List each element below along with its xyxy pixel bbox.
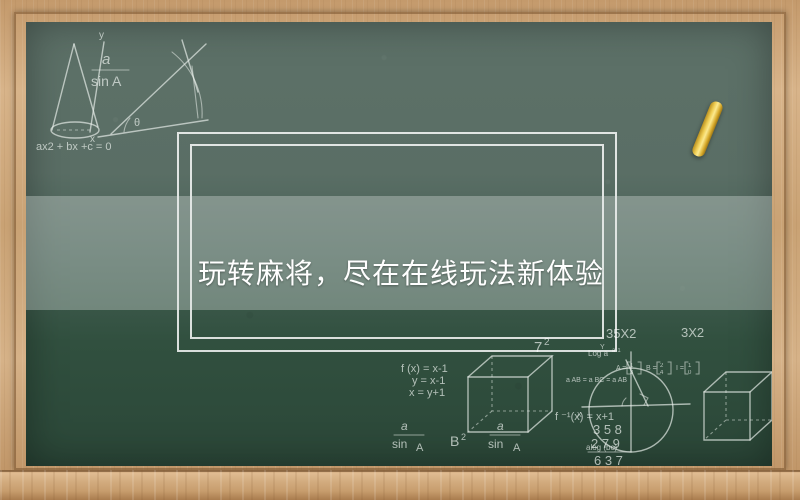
svg-text:2 7 9: 2 7 9 [591,436,620,451]
svg-text:1: 1 [630,363,634,369]
fraction-a-sina-topleft: a sin A [91,51,129,89]
b-squared: B 2 [450,432,466,449]
function-equations: f (x) = x-1 y = x-1 x = y+1 [401,363,448,399]
svg-text:sin: sin [392,437,407,451]
cone-diagram [51,44,99,138]
svg-text:a: a [401,419,408,433]
chalkboard: a sin A ax2 + bx +c = 0 y x θ [26,22,772,466]
svg-text:1: 1 [688,363,692,369]
fraction-a-sina-bottom-center: a sin A [488,419,521,454]
svg-text:x = y+1: x = y+1 [409,387,445,399]
svg-text:B: B [450,433,459,449]
svg-text:2: 2 [461,432,466,442]
multiply-3x2: 3X2 [681,325,704,340]
svg-text:B =: B = [646,365,657,372]
svg-text:X: X [577,412,582,419]
svg-text:I =: I = [676,365,684,372]
ledge-wood-grain [0,470,800,500]
svg-text:a: a [102,51,110,68]
ratio-note: a AB = a BC = a AB [566,377,627,384]
svg-text:θ: θ [134,117,140,129]
svg-text:sin: sin [488,437,503,451]
svg-text:6 3 7: 6 3 7 [594,453,623,466]
svg-text:y: y [99,30,104,41]
svg-text:A: A [513,442,521,454]
svg-text:x: x [90,134,95,145]
quadratic-equation: ax2 + bx +c = 0 [36,141,112,153]
svg-text:4: 4 [660,370,664,376]
svg-text:3: 3 [630,370,634,376]
svg-text:3 5 8: 3 5 8 [593,422,622,437]
inverse-function: f ⁻¹(x) = x+1 [555,411,614,423]
banner-title: 玩转麻将，尽在在线玩法新体验 [198,252,604,292]
svg-text:f (x) = x-1: f (x) = x-1 [401,363,448,375]
svg-text:A: A [416,442,424,454]
banner-image: a sin A ax2 + bx +c = 0 y x θ [0,0,800,500]
svg-text:A =: A = [616,365,626,372]
fraction-a-sina-bottom-left: a sin A [392,419,424,454]
chalk-ledge [0,470,800,500]
addition-problem: 3 5 8 2 7 9 6 3 7 [588,422,630,466]
svg-text:2: 2 [660,363,664,369]
svg-text:a: a [497,419,504,433]
svg-text:y = x-1: y = x-1 [412,375,445,387]
log-note: alog (bc) [586,443,617,452]
circle-axis-diagram: Y X [577,344,690,452]
matrix-notation: A = 1 3 B = 2 4 I = 1 0 [616,362,699,376]
cube-diagram-center [468,356,552,432]
svg-text:0: 0 [688,370,692,376]
cube-diagram-right [704,372,772,440]
angle-axis-diagram: y x θ [90,30,208,145]
yellow-chalk-stick-icon [691,100,725,159]
svg-text:sin A: sin A [91,73,122,89]
